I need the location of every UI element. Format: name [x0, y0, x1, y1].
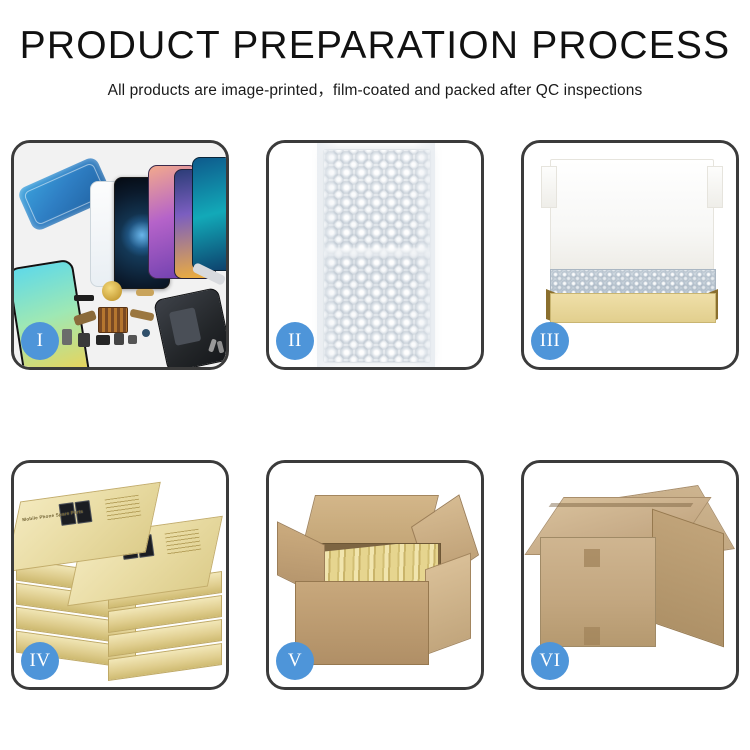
step-badge-4: IV [21, 642, 59, 680]
box-tray-icon [546, 269, 718, 321]
process-step-panel-4[interactable]: Mobile Phone Spare Parts Mobile Phone Sp… [11, 460, 229, 690]
small-part-icon [78, 333, 90, 347]
phone-back-cover-icon [153, 287, 226, 367]
process-step-panel-3[interactable]: III [521, 140, 739, 370]
flex-cable-icon [136, 289, 154, 296]
process-step-panel-2[interactable]: II [266, 140, 484, 370]
step-badge-1: I [21, 322, 59, 360]
speaker-coil-icon [102, 281, 122, 301]
phone-teal-icon [192, 157, 226, 271]
tray-front-face [550, 293, 716, 323]
carton-tape-tab-bottom [584, 627, 600, 645]
carton-front-face [295, 581, 429, 665]
small-part-icon [114, 333, 124, 345]
carton-side-face [425, 553, 471, 656]
carton-tape-tab-top [584, 549, 600, 567]
process-steps-grid: I II III [11, 140, 739, 690]
camera-lens-icon [142, 329, 150, 337]
step-badge-6: VI [531, 642, 569, 680]
step-badge-5: V [276, 642, 314, 680]
sealed-shipping-carton-icon [538, 497, 724, 659]
page-header: PRODUCT PREPARATION PROCESS All products… [0, 0, 750, 100]
chip-grid-icon [98, 307, 128, 333]
process-step-panel-1[interactable]: I [11, 140, 229, 370]
small-part-icon [62, 329, 72, 345]
small-part-icon [128, 335, 137, 344]
box-printed-spec-lines [165, 529, 202, 556]
page-subtitle: All products are image-printed，film-coat… [0, 78, 750, 100]
process-step-panel-6[interactable]: VI [521, 460, 739, 690]
page-title: PRODUCT PREPARATION PROCESS [0, 26, 750, 67]
step-badge-2: II [276, 322, 314, 360]
step-badge-3: III [531, 322, 569, 360]
battery-part-icon [74, 295, 94, 301]
small-part-icon [96, 335, 110, 345]
bubble-wrap-pouch-icon [323, 149, 431, 363]
process-step-panel-5[interactable]: V [266, 460, 484, 690]
open-shipping-carton-icon [281, 489, 471, 667]
product-preparation-process-page: PRODUCT PREPARATION PROCESS All products… [0, 0, 750, 750]
carton-top-seam [549, 503, 694, 507]
box-printed-spec-lines [105, 495, 142, 522]
carton-side-face [652, 509, 724, 648]
flex-cable-icon [129, 309, 154, 322]
box-lid-icon [550, 159, 714, 279]
